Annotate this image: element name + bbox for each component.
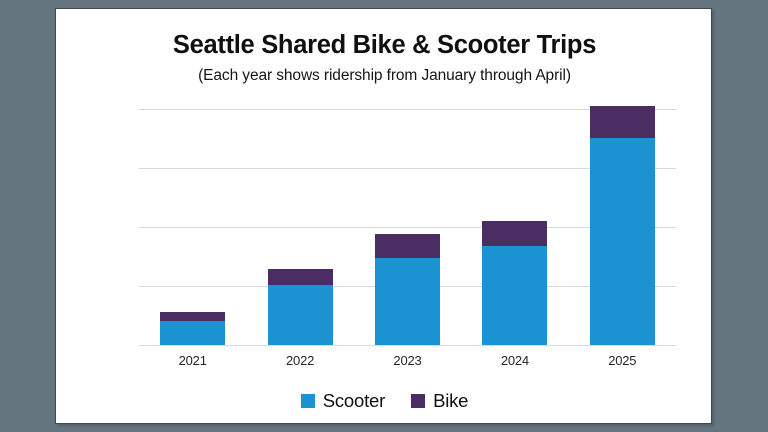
y-axis-labels: -500,0001,000,0001,500,0002,000,000 [55,109,56,345]
chart-legend: ScooterBike [56,390,712,412]
y-axis-tick-label: 500,000 [55,279,56,294]
y-axis-tick-label: - [55,338,56,353]
x-axis-tick-label: 2022 [246,353,353,368]
x-axis-tick-label: 2023 [354,353,461,368]
x-axis-tick-label: 2021 [139,353,246,368]
screenshot-root: Seattle Shared Bike & Scooter Trips (Eac… [0,0,768,432]
legend-item-bike[interactable]: Bike [411,390,468,412]
legend-label: Bike [433,390,468,412]
chart-card: Seattle Shared Bike & Scooter Trips (Eac… [55,8,712,424]
y-axis-tick-label: 1,000,000 [55,220,56,235]
y-axis-tick-label: 2,000,000 [55,102,56,117]
x-axis-labels: 20212022202320242025 [139,9,676,389]
legend-swatch-icon [411,394,425,408]
legend-swatch-icon [301,394,315,408]
y-axis-tick-label: 1,500,000 [55,161,56,176]
legend-label: Scooter [323,390,385,412]
legend-item-scooter[interactable]: Scooter [301,390,385,412]
x-axis-tick-label: 2024 [461,353,568,368]
x-axis-tick-label: 2025 [569,353,676,368]
